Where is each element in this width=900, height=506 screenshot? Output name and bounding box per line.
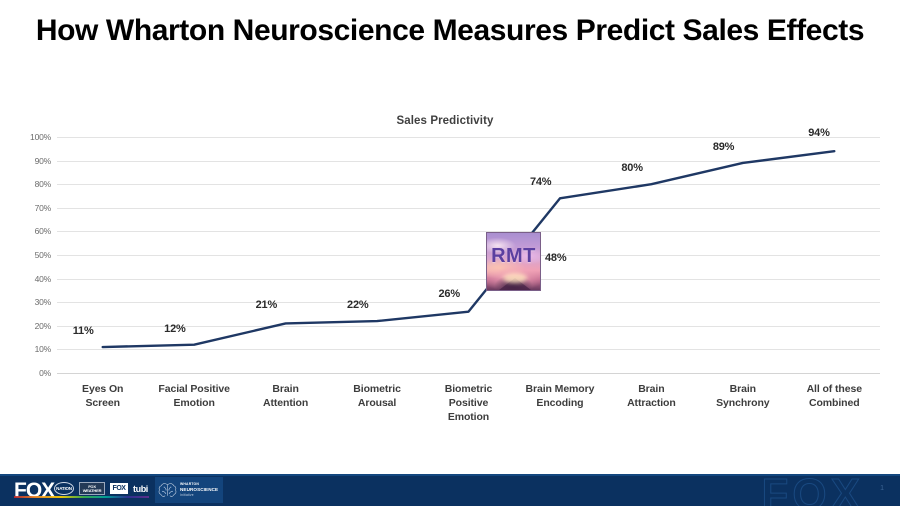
data-label: 22% xyxy=(347,299,368,311)
x-axis-tick-line: Eyes On xyxy=(57,382,148,396)
chart-title: Sales Predictivity xyxy=(0,115,890,127)
fox-brand-logos: NATION FOX WEATHER FOX tubi xyxy=(54,480,149,497)
data-label: 11% xyxy=(73,325,94,337)
x-axis-tick-line: Brain xyxy=(606,382,697,396)
brand-rainbow-divider xyxy=(14,496,149,498)
fox-weather-logo: FOX WEATHER xyxy=(79,482,105,495)
rmt-label: RMT xyxy=(487,245,540,268)
data-label: 74% xyxy=(530,176,551,188)
x-axis-tick: All of theseCombined xyxy=(789,382,880,410)
x-axis-tick-line: Positive xyxy=(423,396,514,410)
x-axis-tick-line: Attention xyxy=(240,396,331,410)
x-axis-tick: BiometricPositiveEmotion xyxy=(423,382,514,424)
data-label: 89% xyxy=(713,141,734,153)
wharton-line3: Initiative xyxy=(180,493,218,499)
x-axis-tick-line: Biometric xyxy=(331,382,422,396)
x-axis-tick-line: Brain xyxy=(240,382,331,396)
y-axis-tick: 80% xyxy=(3,179,51,189)
x-axis-tick-line: Encoding xyxy=(514,396,605,410)
fox-watermark-icon: FOX xyxy=(762,474,864,506)
y-axis-tick: 40% xyxy=(3,274,51,284)
x-axis-tick-line: Synchrony xyxy=(697,396,788,410)
y-axis-tick: 10% xyxy=(3,344,51,354)
y-axis-tick: 0% xyxy=(3,368,51,378)
y-axis-tick: 30% xyxy=(3,297,51,307)
data-label: 80% xyxy=(621,162,642,174)
x-axis-tick-line: Arousal xyxy=(331,396,422,410)
gridline xyxy=(57,373,880,374)
page-number: 1 xyxy=(880,485,884,492)
x-axis-tick: BrainAttraction xyxy=(606,382,697,410)
x-axis-tick-line: Emotion xyxy=(148,396,239,410)
x-axis-tick-line: Combined xyxy=(789,396,880,410)
x-axis-tick-line: Brain xyxy=(697,382,788,396)
x-axis-labels: Eyes OnScreenFacial PositiveEmotionBrain… xyxy=(57,382,880,452)
fox-sports-label: FOX xyxy=(113,485,126,492)
x-axis-tick-line: Brain Memory xyxy=(514,382,605,396)
x-axis-tick-line: Facial Positive xyxy=(148,382,239,396)
x-axis-tick: Brain MemoryEncoding xyxy=(514,382,605,410)
series-line xyxy=(57,137,880,373)
wharton-wordmark: WHARTON NEUROSCIENCE Initiative xyxy=(180,482,218,499)
page-title: How Wharton Neuroscience Measures Predic… xyxy=(0,14,900,48)
data-label: 26% xyxy=(439,288,460,300)
fox-sports-logo: FOX xyxy=(110,483,128,494)
x-axis-tick-line: Emotion xyxy=(423,410,514,424)
x-axis-tick: Facial PositiveEmotion xyxy=(148,382,239,410)
fox-nation-logo: NATION xyxy=(54,482,74,495)
rmt-image-annotation[interactable]: RMT xyxy=(486,232,541,291)
sun-glow xyxy=(503,273,527,283)
footer-divider xyxy=(0,474,900,476)
x-axis-tick-line: Attraction xyxy=(606,396,697,410)
rmt-value-label: 48% xyxy=(545,252,566,264)
wharton-neuroscience-logo: WHARTON NEUROSCIENCE Initiative xyxy=(155,477,223,503)
y-axis-tick: 90% xyxy=(3,156,51,166)
x-axis-tick: BrainAttention xyxy=(240,382,331,410)
sales-predictivity-chart: Sales Predictivity 100%90%80%70%60%50%40… xyxy=(0,105,900,455)
data-label: 12% xyxy=(164,323,185,335)
y-axis-tick: 100% xyxy=(3,132,51,142)
fox-weather-line2: WEATHER xyxy=(83,489,102,493)
x-axis-tick-line: Biometric xyxy=(423,382,514,396)
x-axis-tick: Eyes OnScreen xyxy=(57,382,148,410)
y-axis-tick: 60% xyxy=(3,226,51,236)
tubi-label: tubi xyxy=(133,484,148,494)
brain-icon xyxy=(158,482,177,499)
data-label: 94% xyxy=(808,127,829,139)
x-axis-tick: BrainSynchrony xyxy=(697,382,788,410)
x-axis-tick: BiometricArousal xyxy=(331,382,422,410)
data-label: 21% xyxy=(256,299,277,311)
y-axis-tick: 70% xyxy=(3,203,51,213)
y-axis-tick: 20% xyxy=(3,321,51,331)
tubi-logo: tubi xyxy=(133,483,148,494)
x-axis-tick-line: Screen xyxy=(57,396,148,410)
fox-nation-label: NATION xyxy=(56,486,72,491)
y-axis-tick: 50% xyxy=(3,250,51,260)
x-axis-tick-line: All of these xyxy=(789,382,880,396)
